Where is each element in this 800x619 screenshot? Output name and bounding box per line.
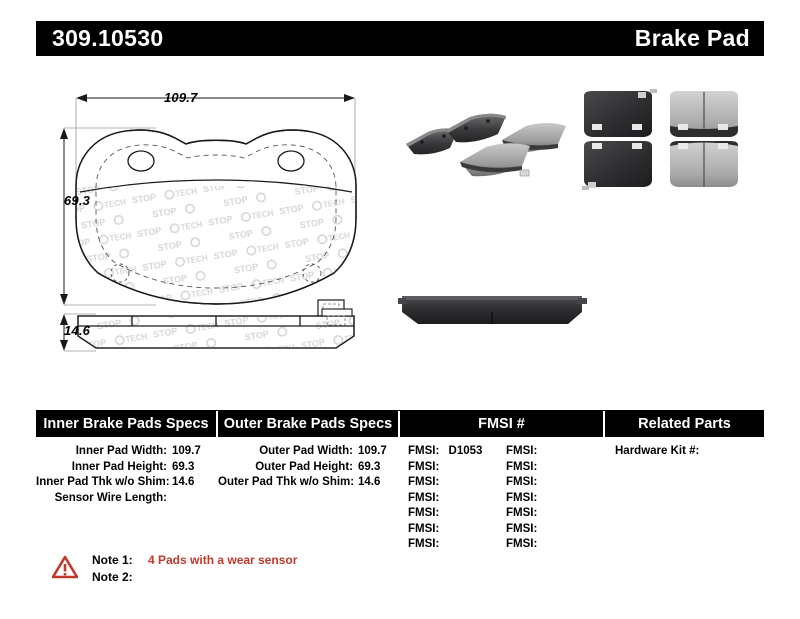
part-number: 309.10530: [52, 25, 163, 52]
fmsi-row: FMSI:: [408, 537, 506, 553]
fmsi-subcolumn-left: FMSI: D1053 FMSI: FMSI: FMSI:: [408, 444, 506, 553]
spec-value: 109.7: [167, 444, 216, 460]
fmsi-row: FMSI:: [408, 491, 506, 507]
photo-grid-pad-top-left: [584, 89, 657, 137]
note-label: Note 2:: [92, 569, 144, 586]
spec-row: Inner Pad Thk w/o Shim: 14.6: [36, 475, 218, 491]
related-parts-cell: Hardware Kit #:: [605, 437, 764, 553]
photo-grid-pad-bottom-right: [670, 141, 738, 187]
fmsi-label: FMSI:: [408, 445, 439, 457]
spec-value: 69.3: [167, 460, 216, 476]
spec-label: Inner Pad Height:: [36, 460, 167, 476]
fmsi-label: FMSI:: [506, 461, 537, 473]
spec-label: Inner Pad Thk w/o Shim:: [36, 475, 167, 491]
spec-value: 14.6: [167, 475, 216, 491]
spec-value: 14.6: [353, 475, 400, 491]
fmsi-row: FMSI: D1053: [408, 444, 506, 460]
fmsi-value: [537, 445, 543, 457]
note-text: [144, 569, 148, 586]
dimension-height-label: 69.3: [64, 193, 90, 208]
note-row-2: Note 2:: [92, 569, 297, 586]
note-text: 4 Pads with a wear sensor: [144, 552, 297, 569]
notes-text-block: Note 1: 4 Pads with a wear sensor Note 2…: [92, 552, 297, 586]
fmsi-value: [439, 523, 445, 535]
column-header-fmsi: FMSI #: [400, 411, 605, 437]
fmsi-row: FMSI:: [506, 537, 604, 553]
spec-row: Outer Pad Width: 109.7: [218, 444, 400, 460]
related-part-label: Hardware Kit #:: [615, 445, 699, 457]
note-row-1: Note 1: 4 Pads with a wear sensor: [92, 552, 297, 569]
fmsi-label: FMSI:: [506, 445, 537, 457]
fmsi-row: FMSI:: [408, 475, 506, 491]
fmsi-label: FMSI:: [408, 538, 439, 550]
fmsi-value: [537, 461, 543, 473]
column-header-outer-specs: Outer Brake Pads Specs: [218, 411, 400, 437]
product-photo-pad-grid: [572, 86, 752, 198]
spec-label: Sensor Wire Length:: [36, 491, 167, 507]
dimension-thickness-label: 14.6: [64, 323, 90, 338]
fmsi-value: [537, 476, 543, 488]
inner-specs-cell: Inner Pad Width: 109.7 Inner Pad Height:…: [36, 437, 218, 553]
product-type-label: Brake Pad: [635, 25, 750, 52]
fmsi-label: FMSI:: [408, 492, 439, 504]
title-bar: 309.10530 Brake Pad: [36, 21, 764, 56]
note-label: Note 1:: [92, 552, 144, 569]
fmsi-row: FMSI:: [506, 522, 604, 538]
fmsi-row: FMSI:: [408, 522, 506, 538]
dimension-width-label: 109.7: [164, 90, 198, 105]
fmsi-label: FMSI:: [506, 523, 537, 535]
fmsi-row: FMSI:: [506, 475, 604, 491]
table-body-row: Inner Pad Width: 109.7 Inner Pad Height:…: [36, 437, 764, 553]
fmsi-row: FMSI:: [506, 491, 604, 507]
spec-value: [167, 491, 216, 507]
column-header-related-parts: Related Parts: [605, 411, 764, 437]
product-photo-angled-pads: [398, 92, 584, 190]
fmsi-row: FMSI:: [408, 460, 506, 476]
fmsi-label: FMSI:: [408, 461, 439, 473]
spec-label: Inner Pad Width:: [36, 444, 167, 460]
table-header-row: Inner Brake Pads Specs Outer Brake Pads …: [36, 411, 764, 437]
fmsi-row: FMSI:: [506, 506, 604, 522]
spec-row: Sensor Wire Length:: [36, 491, 218, 507]
fmsi-value: D1053: [443, 445, 483, 457]
fmsi-value: [537, 523, 543, 535]
product-photo-pad-edge: [392, 272, 592, 340]
fmsi-value: [439, 476, 445, 488]
spec-value: 109.7: [353, 444, 400, 460]
related-part-row: Hardware Kit #:: [605, 444, 764, 460]
photo-grid-pad-bottom-left: [582, 141, 652, 190]
spec-label: Outer Pad Width:: [218, 444, 353, 460]
photo-edge-pad-body: [398, 296, 587, 324]
fmsi-value: [537, 507, 543, 519]
notes-section: Note 1: 4 Pads with a wear sensor Note 2…: [52, 552, 297, 586]
fmsi-value: [439, 492, 445, 504]
fmsi-label: FMSI:: [408, 476, 439, 488]
fmsi-value: [439, 461, 445, 473]
warning-triangle-icon: [52, 555, 78, 579]
technical-drawing: STOP TECH STOP: [36, 68, 396, 378]
spec-label: Outer Pad Height:: [218, 460, 353, 476]
mounting-hole-left: [128, 151, 154, 171]
spec-row: Inner Pad Height: 69.3: [36, 460, 218, 476]
fmsi-label: FMSI:: [506, 476, 537, 488]
fmsi-label: FMSI:: [408, 523, 439, 535]
spec-value: 69.3: [353, 460, 400, 476]
fmsi-label: FMSI:: [506, 538, 537, 550]
column-header-inner-specs: Inner Brake Pads Specs: [36, 411, 218, 437]
fmsi-cell: FMSI: D1053 FMSI: FMSI: FMSI:: [400, 437, 605, 553]
spec-row: Outer Pad Height: 69.3: [218, 460, 400, 476]
fmsi-row: FMSI:: [408, 506, 506, 522]
spec-row: Inner Pad Width: 109.7: [36, 444, 218, 460]
spec-label: Outer Pad Thk w/o Shim:: [218, 475, 353, 491]
fmsi-label: FMSI:: [506, 507, 537, 519]
fmsi-value: [537, 492, 543, 504]
fmsi-value: [537, 538, 543, 550]
spec-row: Outer Pad Thk w/o Shim: 14.6: [218, 475, 400, 491]
fmsi-value: [439, 538, 445, 550]
fmsi-row: FMSI:: [506, 460, 604, 476]
mounting-hole-right: [278, 151, 304, 171]
fmsi-subcolumn-right: FMSI: FMSI: FMSI: FMSI:: [506, 444, 604, 553]
specifications-table: Inner Brake Pads Specs Outer Brake Pads …: [36, 410, 764, 553]
outer-specs-cell: Outer Pad Width: 109.7 Outer Pad Height:…: [218, 437, 400, 553]
fmsi-value: [439, 507, 445, 519]
fmsi-label: FMSI:: [506, 492, 537, 504]
fmsi-row: FMSI:: [506, 444, 604, 460]
fmsi-label: FMSI:: [408, 507, 439, 519]
photo-grid-pad-top-right: [670, 91, 738, 137]
